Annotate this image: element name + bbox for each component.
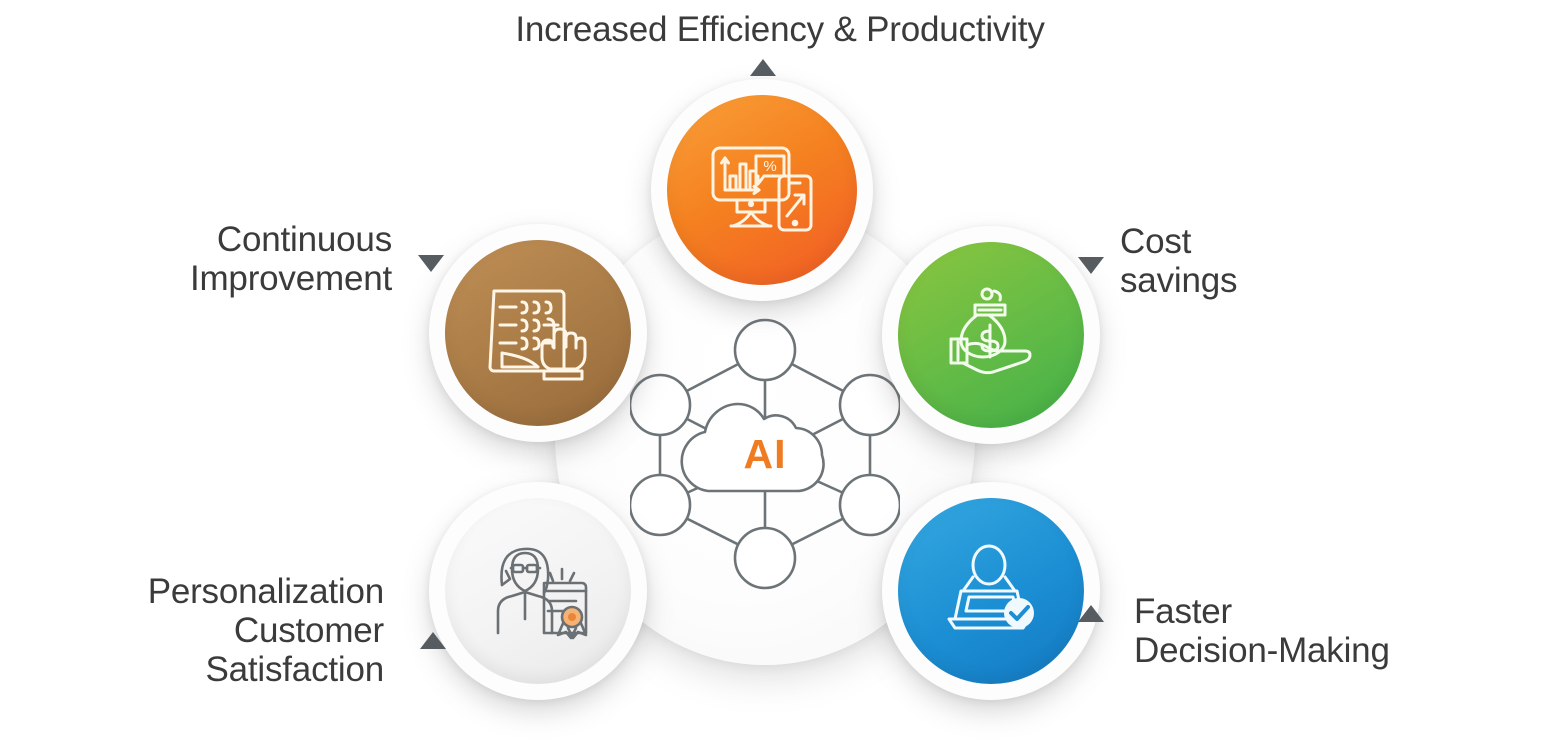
hand-holding-money-bag-icon bbox=[939, 287, 1043, 383]
triangle-up-icon-efficiency bbox=[750, 59, 776, 76]
triangle-down-icon-continuous bbox=[418, 255, 444, 272]
node-disc: % bbox=[667, 95, 857, 285]
ai-cloud-network-icon: AI bbox=[630, 305, 900, 595]
benefit-label-faster: Faster Decision-Making bbox=[1134, 592, 1554, 670]
benefit-label-personalization: Personalization Customer Satisfaction bbox=[20, 572, 384, 690]
triangle-down-icon-cost bbox=[1078, 257, 1104, 274]
triangle-up-icon-personalization bbox=[420, 632, 446, 649]
benefit-node-faster[interactable] bbox=[898, 498, 1084, 684]
benefit-node-cost[interactable] bbox=[898, 242, 1084, 428]
benefit-node-personalization[interactable] bbox=[445, 498, 631, 684]
monitor-bar-chart-percent-mobile-icon: % bbox=[707, 140, 817, 240]
benefit-label-cost: Cost savings bbox=[1120, 222, 1480, 300]
checklist-hand-pointer-icon bbox=[486, 283, 590, 383]
node-disc bbox=[898, 242, 1084, 428]
node-disc bbox=[898, 498, 1084, 684]
benefit-node-efficiency[interactable]: % bbox=[667, 95, 857, 285]
ai-benefits-diagram: AI bbox=[0, 0, 1562, 752]
benefit-node-continuous[interactable] bbox=[445, 240, 631, 426]
node-disc bbox=[445, 498, 631, 684]
node-disc bbox=[445, 240, 631, 426]
woman-certificate-award-icon bbox=[484, 541, 592, 641]
benefit-label-continuous: Continuous Improvement bbox=[40, 220, 392, 298]
svg-text:%: % bbox=[763, 158, 776, 175]
ai-center-label: AI bbox=[630, 431, 900, 478]
person-laptop-check-icon bbox=[939, 543, 1043, 639]
benefit-label-efficiency: Increased Efficiency & Productivity bbox=[380, 10, 1180, 49]
